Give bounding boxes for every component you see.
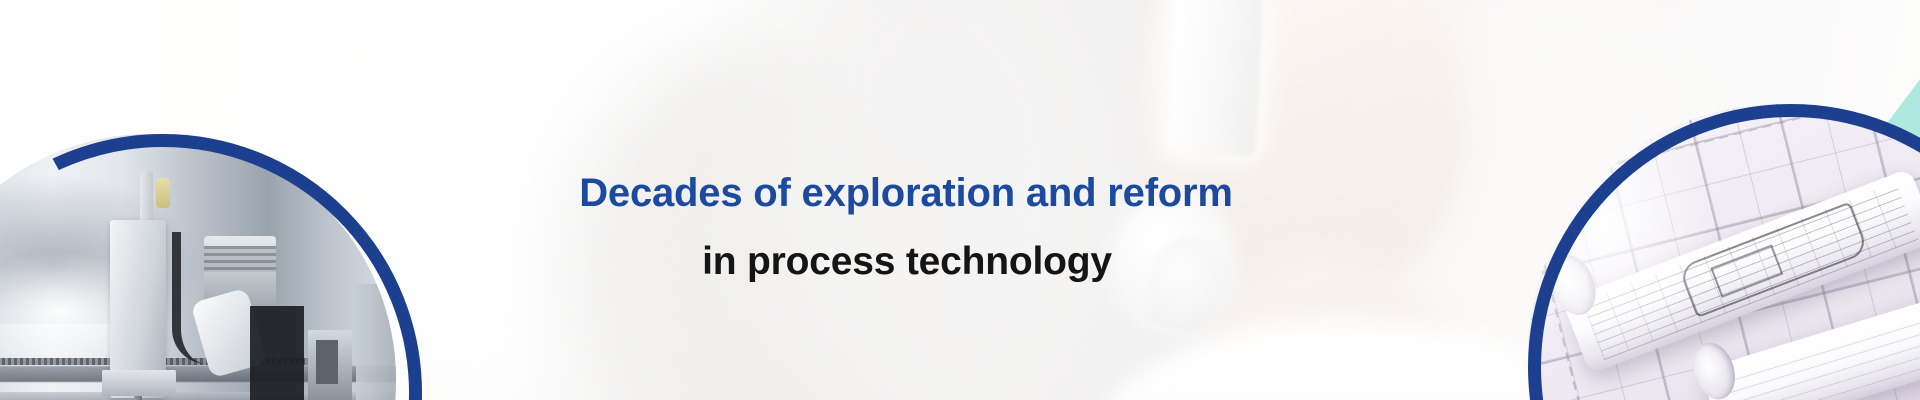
banner-headline: Decades of exploration and reform in pro… bbox=[0, 172, 1920, 283]
machine-head-base bbox=[102, 370, 176, 396]
machine-clamp-inner bbox=[316, 340, 338, 384]
machine-right-frame bbox=[356, 284, 396, 400]
machine-nozzle bbox=[134, 396, 142, 400]
headline-line-1: Decades of exploration and reform bbox=[0, 172, 1920, 214]
machine-foreground-blur bbox=[0, 384, 34, 400]
hero-banner: Decades of exploration and reform in pro… bbox=[0, 0, 1920, 400]
machine-dark-block bbox=[250, 306, 304, 400]
headline-line-2: in process technology bbox=[0, 242, 1920, 283]
